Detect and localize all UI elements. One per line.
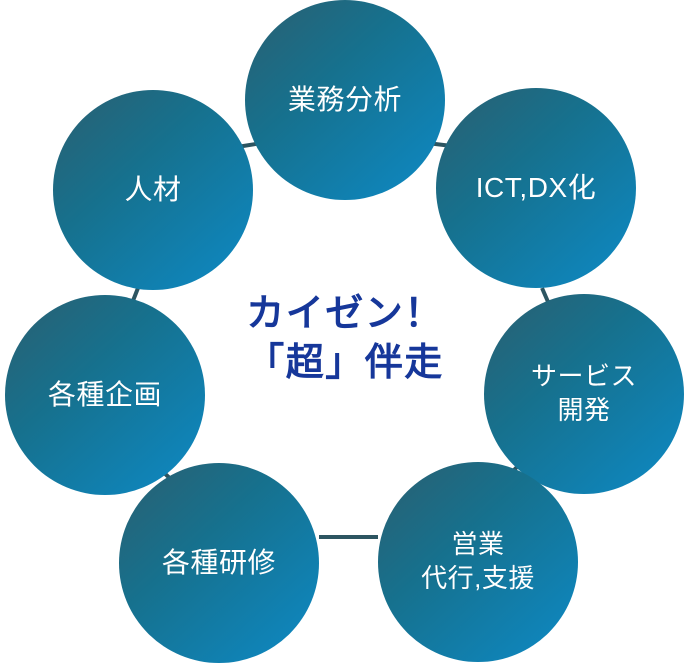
node-various-training[interactable]: 各種研修 — [119, 463, 319, 663]
node-human-resources-label: 人材 — [124, 172, 181, 208]
node-business-analysis-label: 業務分析 — [288, 82, 402, 118]
node-business-analysis[interactable]: 業務分析 — [245, 0, 445, 200]
diagram-canvas: 業務分析ICT,DX化サービス 開発営業 代行,支援各種研修各種企画人材 カイゼ… — [0, 0, 690, 665]
node-ict-dx[interactable]: ICT,DX化 — [436, 88, 636, 288]
node-ict-dx-label: ICT,DX化 — [476, 170, 597, 206]
center-slogan: カイゼン！ 「超」伴走 — [0, 290, 690, 387]
node-sales-agency-support[interactable]: 営業 代行,支援 — [378, 462, 578, 662]
node-human-resources[interactable]: 人材 — [53, 90, 253, 290]
node-sales-agency-support-label: 営業 代行,支援 — [421, 528, 535, 596]
node-various-training-label: 各種研修 — [162, 545, 276, 581]
